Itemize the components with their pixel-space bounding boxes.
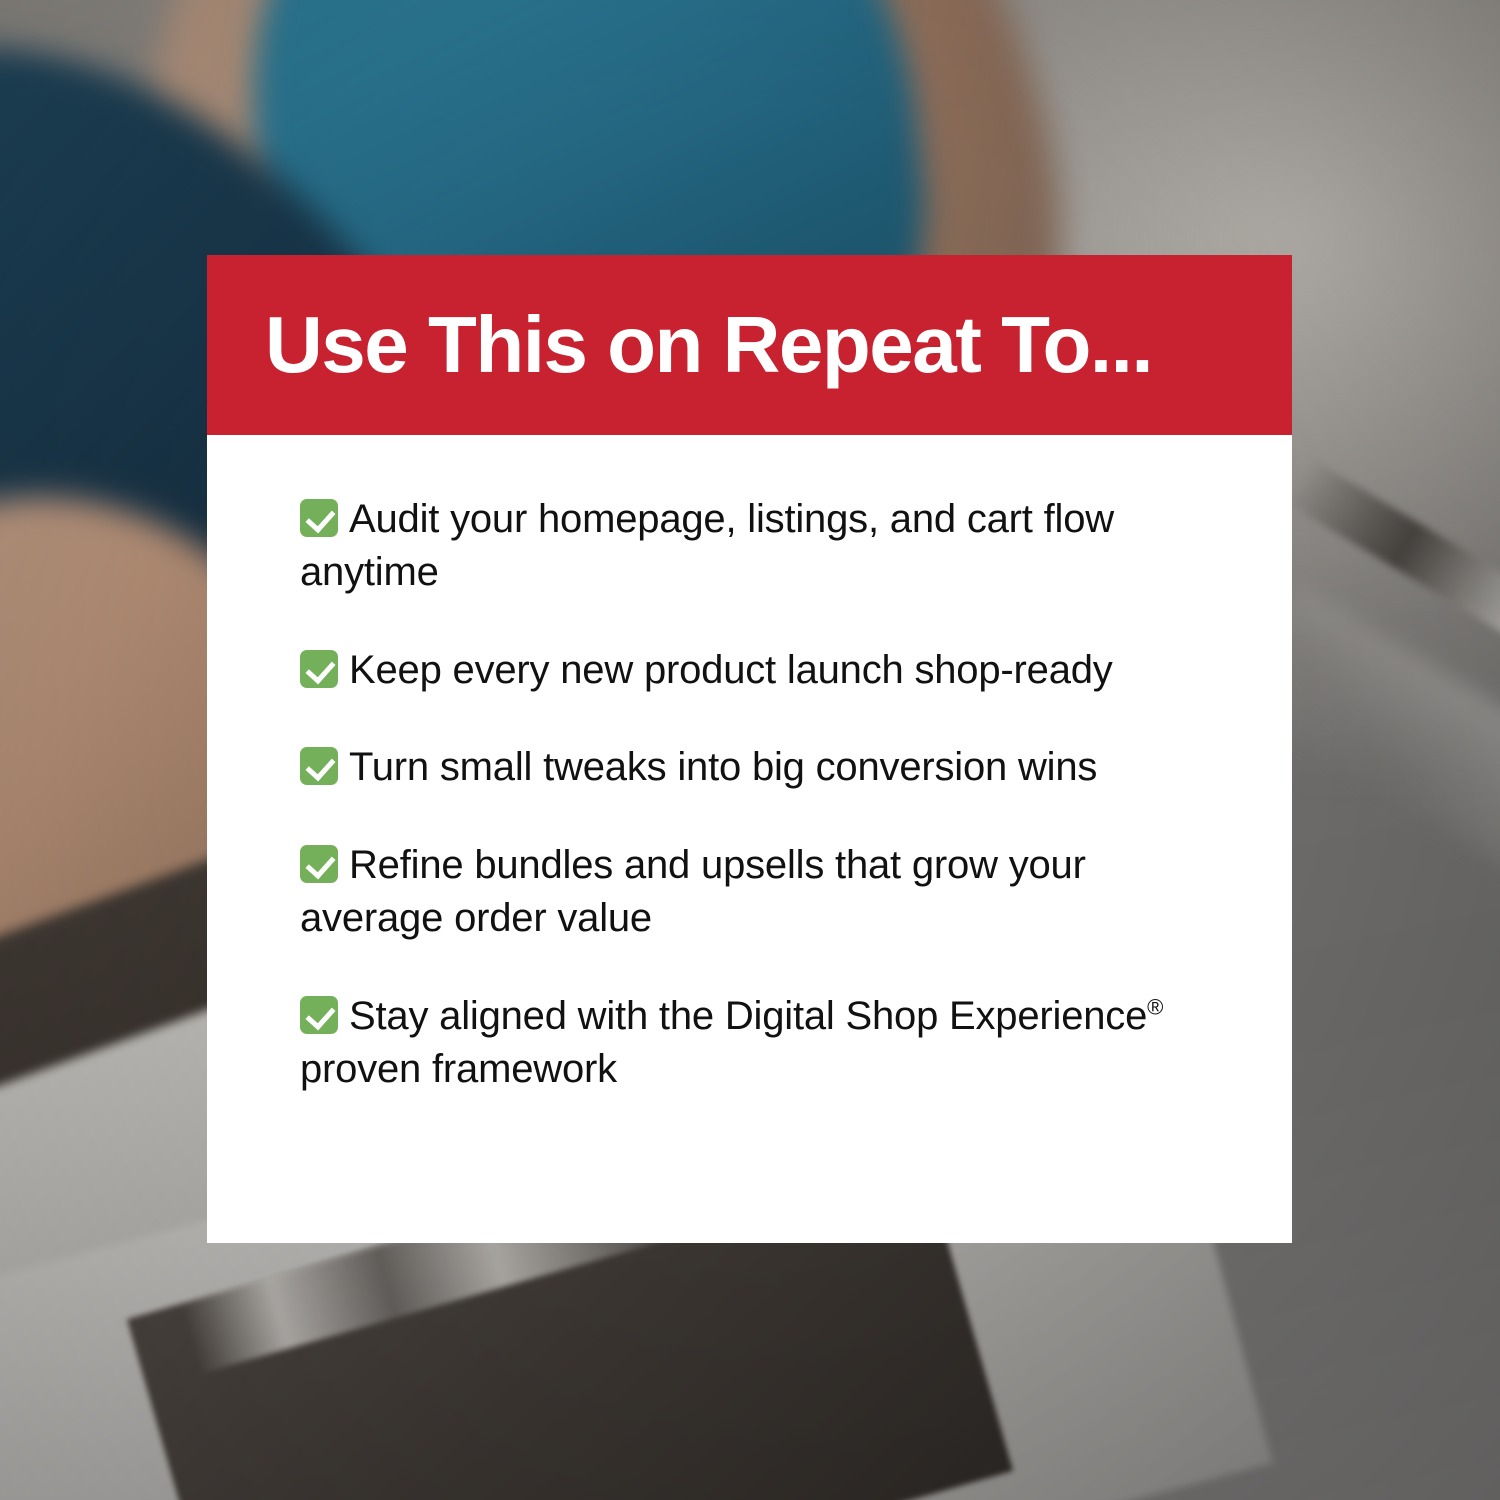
card-header-banner: Use This on Repeat To...: [207, 255, 1292, 435]
list-item-label: Keep every new product launch shop-ready: [349, 648, 1113, 692]
list-item-label: Refine bundles and upsells that grow you…: [300, 843, 1086, 940]
check-mark-button-icon: [300, 650, 338, 688]
registered-trademark-icon: ®: [1147, 994, 1163, 1019]
list-item-label: Turn small tweaks into big conversion wi…: [349, 745, 1097, 789]
list-item: Refine bundles and upsells that grow you…: [300, 839, 1205, 945]
list-item-label: Audit your homepage, listings, and cart …: [300, 497, 1114, 594]
list-item: Audit your homepage, listings, and cart …: [300, 493, 1205, 599]
content-card: Use This on Repeat To... Audit your home…: [207, 255, 1292, 1243]
check-mark-button-icon: [300, 747, 338, 785]
benefits-list: Audit your homepage, listings, and cart …: [207, 435, 1292, 1243]
list-item-label-part-2: proven framework: [300, 1047, 617, 1091]
check-mark-button-icon: [300, 996, 338, 1034]
list-item: Stay aligned with the Digital Shop Exper…: [300, 990, 1205, 1096]
page-title: Use This on Repeat To...: [207, 305, 1152, 385]
list-item: Keep every new product launch shop-ready: [300, 644, 1205, 697]
check-mark-button-icon: [300, 845, 338, 883]
list-item: Turn small tweaks into big conversion wi…: [300, 741, 1205, 794]
check-mark-button-icon: [300, 499, 338, 537]
list-item-label-part-1: Stay aligned with the Digital Shop Exper…: [349, 994, 1147, 1038]
